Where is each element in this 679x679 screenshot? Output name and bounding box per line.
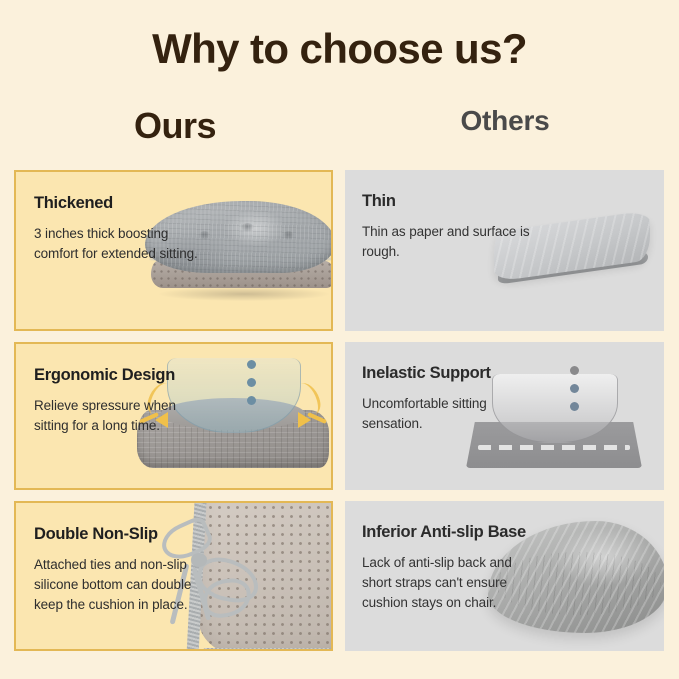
card-description: Lack of anti-slip back and short straps … bbox=[362, 553, 540, 613]
column-heading-ours: Ours bbox=[14, 106, 336, 146]
card-text-block: Thin Thin as paper and surface is rough. bbox=[362, 192, 540, 262]
pressure-dot-icon bbox=[570, 384, 579, 393]
card-title: Ergonomic Design bbox=[34, 366, 212, 385]
card-description: 3 inches thick boosting comfort for exte… bbox=[34, 224, 212, 264]
card-text-block: Double Non-Slip Attached ties and non-sl… bbox=[34, 525, 212, 615]
card-text-block: Thickened 3 inches thick boosting comfor… bbox=[34, 194, 212, 264]
pressure-arrow-icon bbox=[298, 412, 311, 428]
card-others-inelastic-support: Inelastic Support Uncomfortable sitting … bbox=[345, 342, 664, 490]
pressure-dot-icon bbox=[247, 378, 256, 387]
comparison-grid: Thickened 3 inches thick boosting comfor… bbox=[14, 170, 664, 662]
card-description: Attached ties and non-slip silicone bott… bbox=[34, 555, 212, 615]
card-text-block: Ergonomic Design Relieve spressure when … bbox=[34, 366, 212, 436]
card-title: Inelastic Support bbox=[362, 364, 540, 383]
pressure-dot-icon bbox=[570, 402, 579, 411]
dashed-line-icon bbox=[478, 445, 630, 450]
card-title: Double Non-Slip bbox=[34, 525, 212, 544]
card-text-block: Inelastic Support Uncomfortable sitting … bbox=[362, 364, 540, 434]
card-description: Relieve spressure when sitting for a lon… bbox=[34, 396, 212, 436]
card-title: Thin bbox=[362, 192, 540, 211]
pressure-dot-icon bbox=[570, 366, 579, 375]
card-title: Thickened bbox=[34, 194, 212, 213]
card-title: Inferior Anti-slip Base bbox=[362, 523, 540, 542]
comparison-row: Double Non-Slip Attached ties and non-sl… bbox=[14, 501, 664, 651]
pressure-dot-icon bbox=[247, 396, 256, 405]
comparison-infographic: Why to choose us? Ours Others Thickened bbox=[0, 0, 679, 679]
card-ours-thickened: Thickened 3 inches thick boosting comfor… bbox=[14, 170, 333, 331]
column-heading-others: Others bbox=[346, 106, 664, 137]
card-text-block: Inferior Anti-slip Base Lack of anti-sli… bbox=[362, 523, 540, 613]
card-ours-double-non-slip: Double Non-Slip Attached ties and non-sl… bbox=[14, 501, 333, 651]
pressure-dot-icon bbox=[247, 360, 256, 369]
page-title: Why to choose us? bbox=[0, 26, 679, 72]
comparison-row: Thickened 3 inches thick boosting comfor… bbox=[14, 170, 664, 331]
comparison-row: Ergonomic Design Relieve spressure when … bbox=[14, 342, 664, 490]
card-others-thin: Thin Thin as paper and surface is rough. bbox=[345, 170, 664, 331]
card-description: Uncomfortable sitting sensation. bbox=[362, 394, 540, 434]
card-others-inferior-anti-slip-base: Inferior Anti-slip Base Lack of anti-sli… bbox=[345, 501, 664, 651]
card-ours-ergonomic-design: Ergonomic Design Relieve spressure when … bbox=[14, 342, 333, 490]
card-description: Thin as paper and surface is rough. bbox=[362, 222, 540, 262]
